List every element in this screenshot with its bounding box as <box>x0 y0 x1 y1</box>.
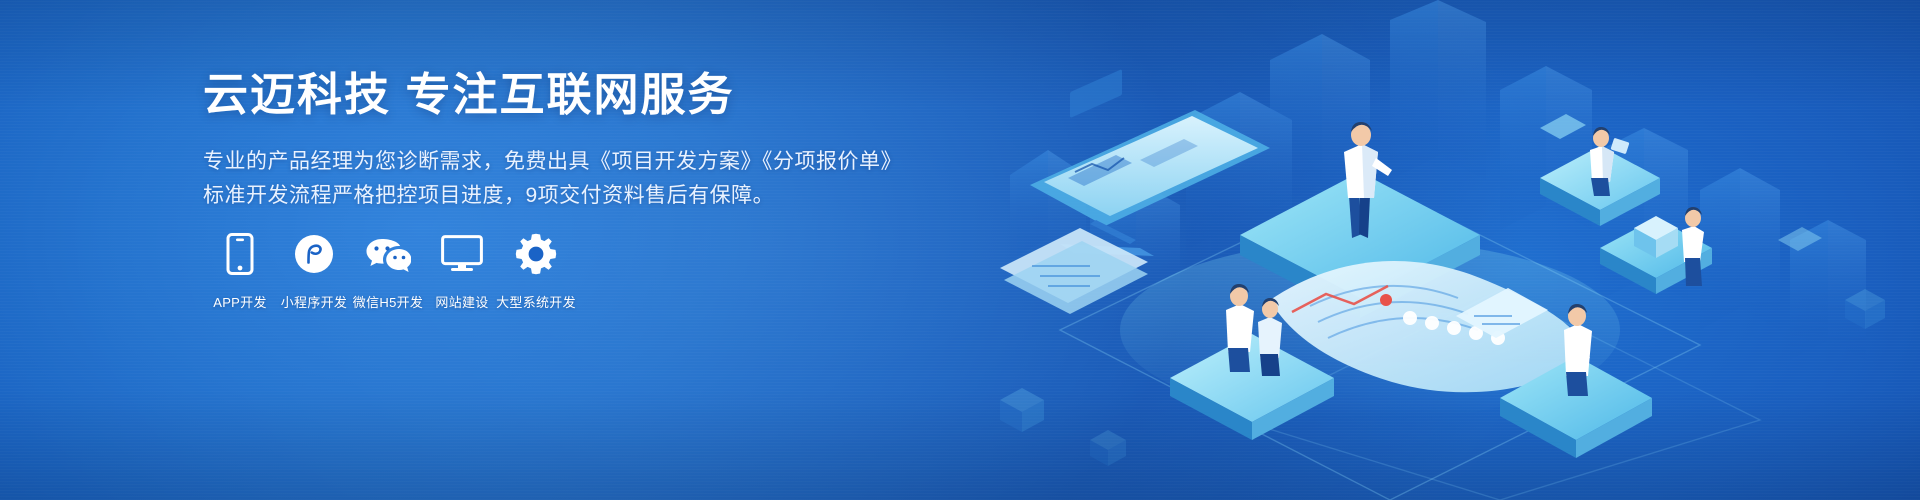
service-label: 大型系统开发 <box>496 292 576 311</box>
subtitle-line-1: 专业的产品经理为您诊断需求，免费出具《项目开发方案》《分项报价单》 <box>203 145 923 179</box>
mini-program-icon <box>294 232 334 276</box>
monitor-icon <box>441 232 483 276</box>
gear-icon <box>515 232 557 276</box>
hero-copy: 云迈科技 专注互联网服务 专业的产品经理为您诊断需求，免费出具《项目开发方案》《… <box>203 68 923 213</box>
service-item-website[interactable]: 网站建设 <box>425 232 499 311</box>
wechat-icon <box>365 232 411 276</box>
service-label: APP开发 <box>213 292 267 311</box>
page-title: 云迈科技 专注互联网服务 <box>203 68 923 123</box>
service-label: 小程序开发 <box>281 292 348 311</box>
service-label: 网站建设 <box>435 292 488 311</box>
subtitle-line-2: 标准开发流程严格把控项目进度，9项交付资料售后有保障。 <box>203 179 923 213</box>
hero-banner: 云迈科技 专注互联网服务 专业的产品经理为您诊断需求，免费出具《项目开发方案》《… <box>0 0 1920 500</box>
service-label: 微信H5开发 <box>353 292 423 311</box>
mobile-phone-icon <box>226 232 254 276</box>
service-item-app[interactable]: APP开发 <box>203 232 277 311</box>
service-item-mini-program[interactable]: 小程序开发 <box>277 232 351 311</box>
service-item-wechat-h5[interactable]: 微信H5开发 <box>351 232 425 311</box>
service-item-large-system[interactable]: 大型系统开发 <box>499 232 573 311</box>
hero-illustration <box>940 0 1920 500</box>
service-list: APP开发 小程序开发 微信 <box>203 232 573 311</box>
